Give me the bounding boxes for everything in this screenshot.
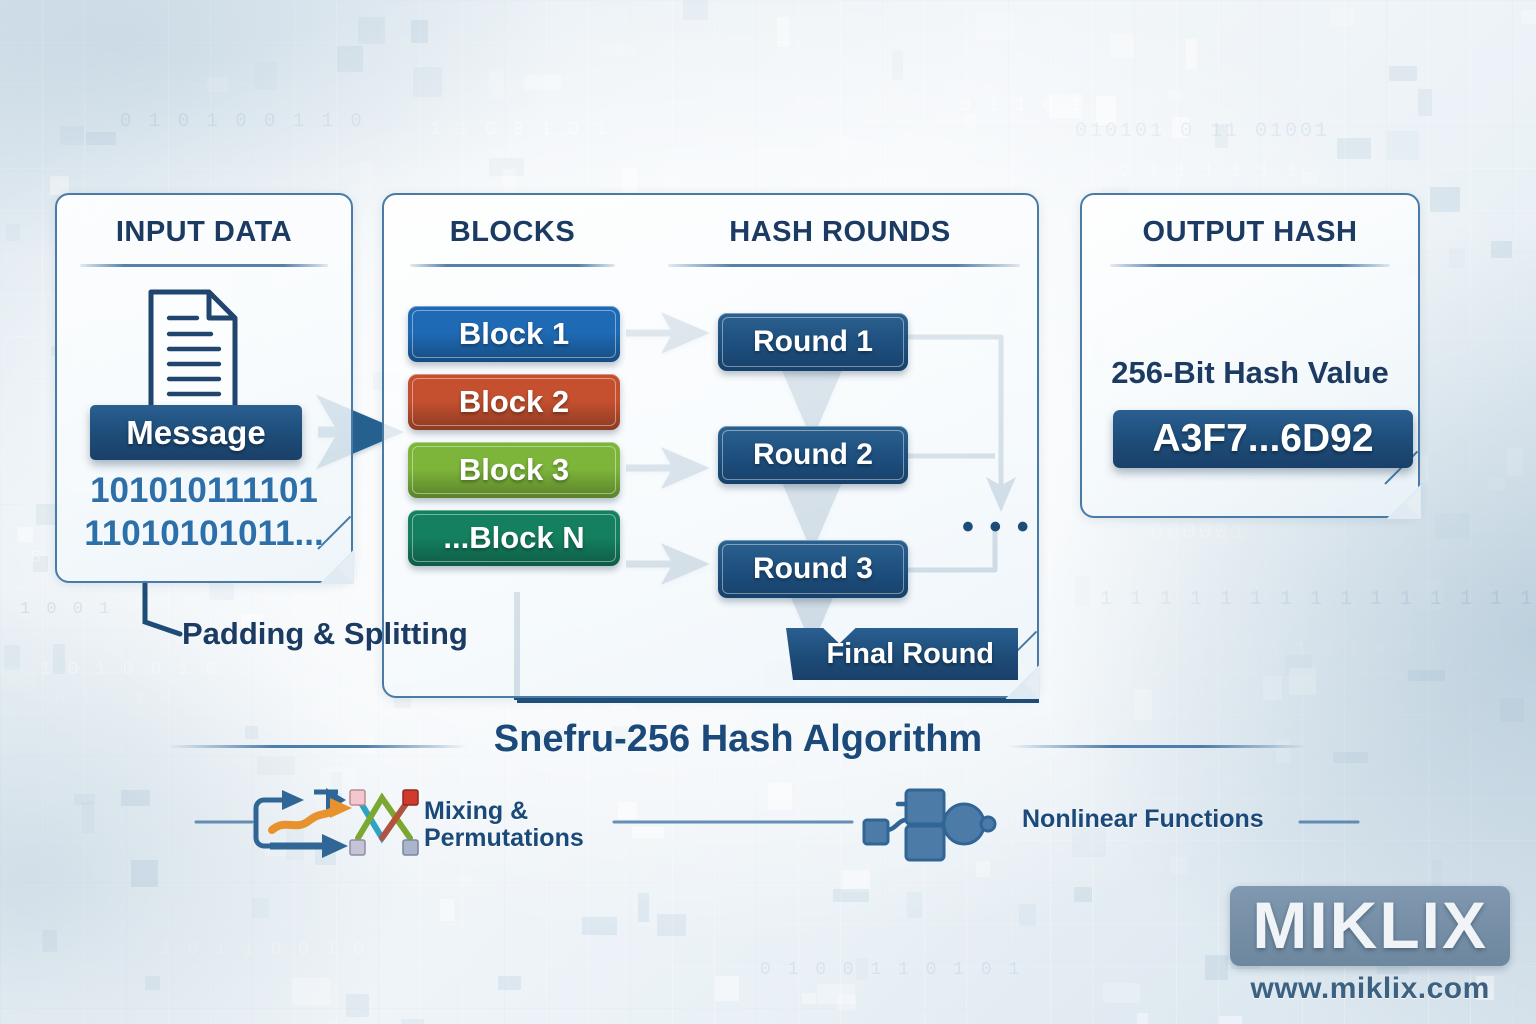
background-pixel [842,870,870,892]
background-pixel [293,700,330,721]
caption-rule-left [168,745,468,748]
legend-item-mixing: Mixing & Permutations [424,798,584,852]
background-pixel [857,143,870,156]
background-pixel [6,224,20,241]
block-box-1[interactable]: Block 1 [408,306,620,362]
round-label: Round 2 [753,438,873,472]
legend-mixing-line2: Permutations [424,825,584,852]
background-pixel [1075,576,1090,606]
background-pixel [1172,117,1189,138]
background-pixel [817,984,855,1004]
block-label: Block 3 [459,452,569,488]
background-pixel [360,162,373,191]
background-pixel [1521,10,1536,24]
background-pixel [401,1019,424,1024]
background-pixel [346,994,369,1017]
legend-nonlinear-line1: Nonlinear Functions [1022,806,1264,833]
background-pixel [1219,1016,1242,1024]
background-pixel [145,976,160,990]
background-pixel [1103,983,1140,1003]
background-pixel [856,958,868,980]
background-pixel [715,976,739,1001]
background-bit-row: 1 0 1 1 0 0 1 0 [160,940,367,960]
background-pixel [802,993,816,1004]
round-box-3[interactable]: Round 3 [718,540,908,598]
background-pixel [1134,689,1152,720]
hash-rounds-title: HASH ROUNDS [660,216,1020,249]
background-pixel [42,930,57,952]
background-pixel [121,790,150,806]
background-pixel [1215,124,1228,148]
background-pixel [1449,248,1465,268]
block-label: Block 1 [459,316,569,352]
background-bit-row: 0 1 1 0 1 0 [960,96,1112,116]
background-pixel [638,893,649,922]
binary-line-2: 11010101011... [55,513,353,556]
background-pixel [837,994,856,1010]
background-pixel [489,71,504,98]
background-pixel [1276,740,1290,763]
final-round-box[interactable]: Final Round [786,628,1018,680]
watermark-brand: MIKLIX [1252,892,1488,958]
background-bit-row: 0 1 1 1 0 1 [55,690,200,709]
background-pixel [440,899,454,921]
background-pixel [1096,96,1116,125]
hash-value-box[interactable]: A3F7...6D92 [1113,410,1413,468]
blocks-title-rule [410,264,615,267]
background-pixel [53,644,65,674]
round-label: Round 1 [753,325,873,359]
background-pixel [976,12,1014,40]
background-pixel [1418,89,1432,116]
background-pixel [600,45,635,56]
background-bit-row: 010101 0 11 01001 [1075,120,1330,143]
round-box-1[interactable]: Round 1 [718,313,908,371]
background-pixel [1331,8,1355,26]
binary-preview: 101010111101 11010101011... [55,470,353,555]
round-box-2[interactable]: Round 2 [718,426,908,484]
input-title-rule [80,264,328,267]
background-pixel [618,802,637,819]
block-box-3[interactable]: Block 3 [408,442,620,498]
output-hash-title: OUTPUT HASH [1080,216,1420,249]
output-title-rule [1110,264,1390,267]
background-bit-row: 0 1 0 1 1 0 1 0 0 1 [1190,640,1441,659]
background-pixel [498,976,521,990]
diagram-canvas: 010101 0 11 010012 1 1 1 1 1 10000011 1 … [0,0,1536,1024]
caption-rule-right [1008,745,1308,748]
background-pixel [1205,955,1228,980]
background-pixel [1430,187,1460,212]
background-bit-row: 0 1 0 0 1 1 0 1 0 1 [760,960,1022,980]
watermark-url: www.miklix.com [1230,972,1510,1006]
background-pixel [18,527,33,542]
background-pixel [257,757,295,775]
background-pixel [582,917,617,935]
legend-item-nonlinear: Nonlinear Functions [1022,806,1264,833]
background-pixel [252,898,269,918]
shuffle-arrows-icon [252,786,362,860]
background-pixel [1137,1013,1148,1024]
background-bit-row: 0 1 0 1 0 0 1 1 0 [120,110,365,132]
background-pixel [777,17,789,47]
background-pixel [1488,477,1505,490]
binary-line-1: 101010111101 [55,470,353,513]
background-pixel [965,114,976,128]
background-pixel [60,126,84,145]
message-label: Message [126,414,265,452]
background-pixel [1408,670,1445,681]
background-pixel [4,645,20,670]
background-pixel [489,158,524,176]
background-pixel [86,132,116,145]
legend-mixing-line1: Mixing & [424,798,584,825]
permutation-zigzag-icon [348,788,420,858]
background-pixel [1387,131,1419,160]
background-pixel [460,875,473,886]
background-pixel [1491,241,1512,258]
block-box-2[interactable]: Block 2 [408,374,620,430]
background-pixel [1285,655,1312,675]
hash-rounds-title-rule [668,264,1020,267]
background-pixel [1019,904,1036,926]
hash-value-caption: 256-Bit Hash Value [1080,355,1420,391]
background-pixel [622,168,637,196]
background-pixel [683,0,708,20]
background-bit-row: 1 0 0 1 [20,600,112,619]
background-bit-row: 1 1 0 0 1 0 1 [430,120,609,140]
background-bit-row: 2 1 1 1 1 1 1 [1120,162,1299,182]
background-pixel [245,726,258,739]
background-pixel [413,67,442,97]
background-pixel [2,667,36,689]
background-pixel [664,165,684,186]
background-pixel [1110,34,1134,58]
panel-chamfer [1387,485,1421,519]
background-bit-row: 000001 [1150,520,1247,545]
background-pixel [1171,857,1188,874]
background-pixel [411,20,428,43]
background-pixel [892,51,903,80]
background-pixel [1337,138,1371,159]
background-bit-row: 1 1 1 1 1 1 1 1 1 1 1 1 1 1 1 0 11 [1100,588,1536,611]
background-pixel [1432,860,1442,888]
background-pixel [503,169,516,192]
block-label: ...Block N [443,520,584,556]
background-pixel [1167,90,1181,101]
background-pixel [907,892,922,918]
background-pixel [1186,39,1197,69]
background-pixel [82,802,94,833]
background-pixel [207,77,228,92]
background-pixel [358,17,385,44]
round-label: Round 3 [753,552,873,586]
padding-splitting-label: Padding & Splitting [182,616,468,652]
background-bit-row: 1 0 1 0 0 1 0 [40,660,219,680]
algorithm-title: Snefru-256 Hash Algorithm [468,718,1008,761]
background-pixel [1389,66,1417,81]
background-pixel [632,827,664,838]
background-pixel [1263,676,1282,700]
background-pixel [1289,668,1316,695]
background-pixel [1418,579,1443,610]
background-pixel [209,580,234,600]
background-pixel [33,556,48,572]
document-icon [147,288,239,412]
background-pixel [976,861,990,877]
background-pixel [1507,448,1523,476]
block-box-4[interactable]: ...Block N [408,510,620,566]
background-pixel [74,794,95,805]
background-pixel [833,889,869,902]
background-pixel [839,136,849,159]
message-box[interactable]: Message [90,405,302,460]
final-round-label: Final Round [826,638,994,671]
watermark-badge: MIKLIX [1230,886,1510,966]
background-pixel [337,46,363,72]
input-data-title: INPUT DATA [55,216,353,249]
block-label: Block 2 [459,384,569,420]
background-pixel [524,75,561,90]
blocks-title: BLOCKS [400,216,625,249]
background-pixel [1500,698,1524,722]
background-pixel [768,783,792,810]
hash-value-label: A3F7...6D92 [1152,417,1373,461]
background-pixel [657,914,686,936]
background-pixel [131,860,158,887]
background-pixel [1435,513,1470,539]
background-pixel [292,978,330,1005]
background-pixel [255,62,277,90]
background-pixel [1333,752,1368,763]
background-pixel [1303,172,1318,184]
background-pixel [1074,887,1092,902]
rounds-ellipsis: • • • [962,508,1032,547]
watermark: MIKLIX www.miklix.com [1230,886,1510,1006]
background-pixel [1049,94,1082,118]
logic-gate-icon [858,786,1013,862]
